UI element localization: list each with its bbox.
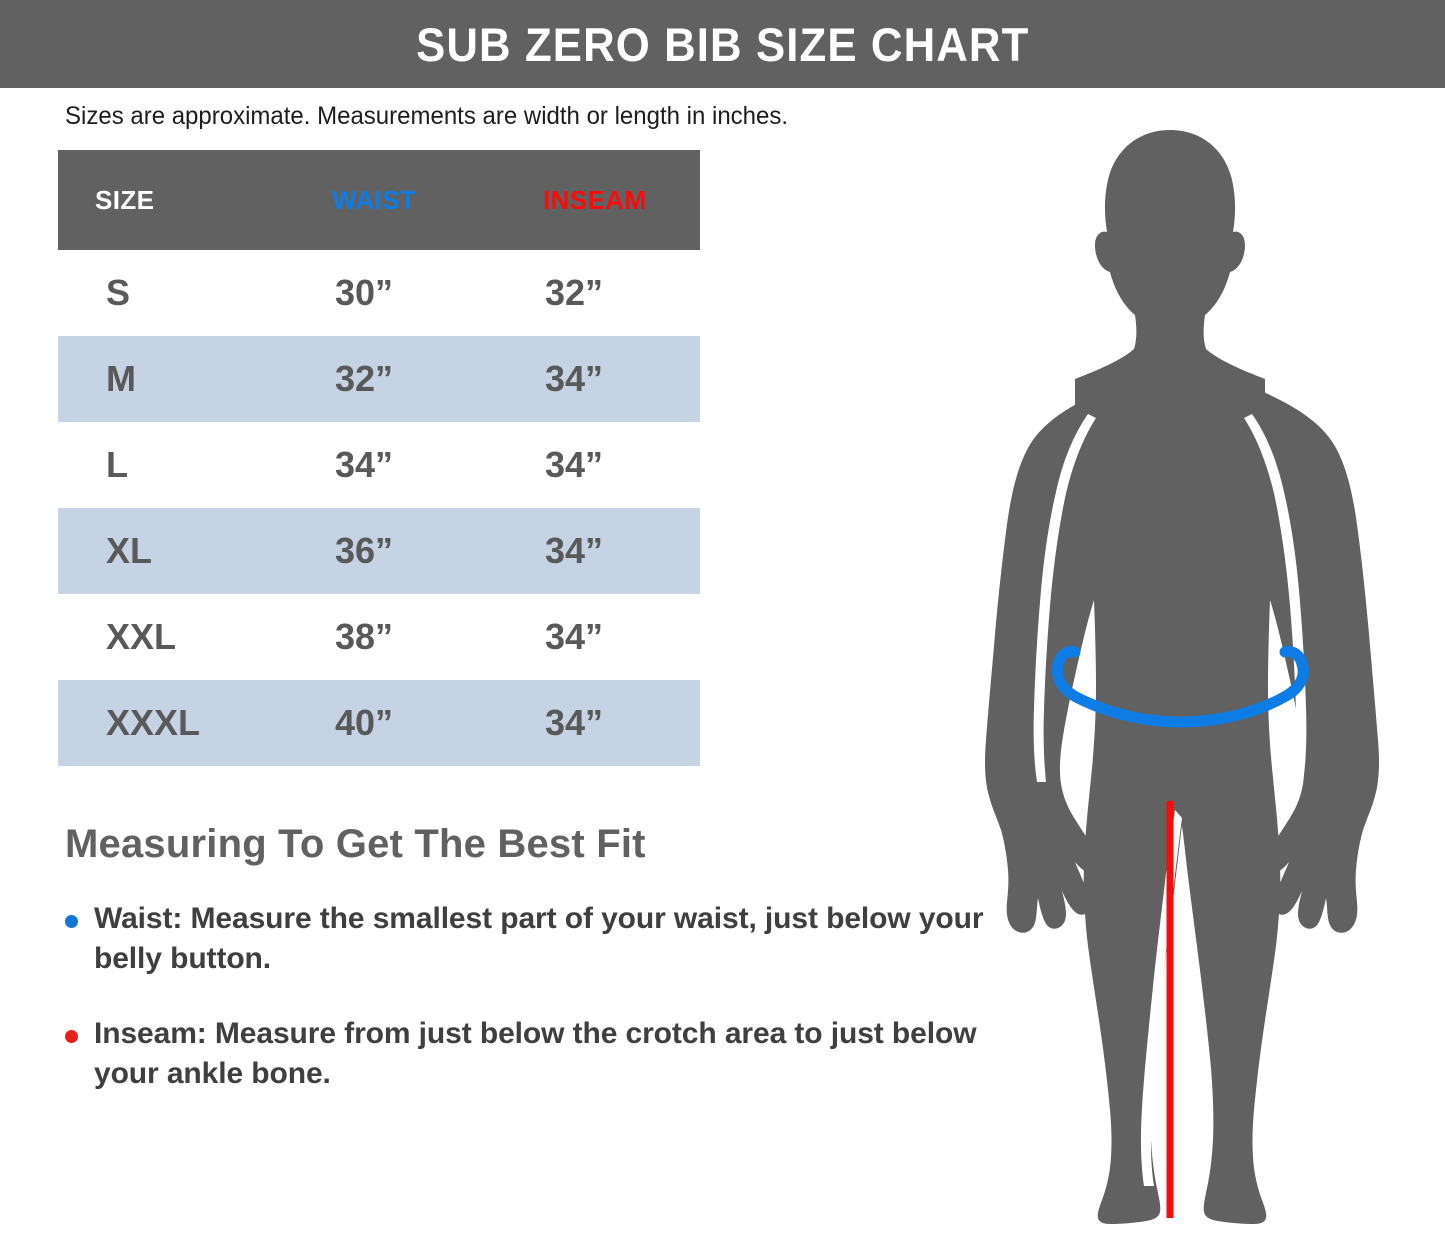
bullet-point-icon-waist (65, 915, 78, 928)
measuring-tip-waist: Waist: Measure the smallest part of your… (65, 899, 985, 978)
measuring-heading: Measuring To Get The Best Fit (65, 823, 985, 865)
subtitle-note: Sizes are approximate. Measurements are … (65, 102, 788, 131)
cell-size: M (58, 336, 290, 422)
cell-inseam: 34” (495, 422, 700, 508)
cell-size: XXXL (58, 680, 290, 766)
cell-inseam: 34” (495, 594, 700, 680)
page-header-banner: SUB ZERO BIB SIZE CHART (0, 0, 1445, 88)
measuring-tip-waist-text: Waist: Measure the smallest part of your… (94, 899, 985, 978)
cell-size: XL (58, 508, 290, 594)
table-body: S 30” 32” M 32” 34” L 34” 34” XL 36” 34”… (58, 250, 700, 766)
cell-waist: 36” (290, 508, 495, 594)
table-row: M 32” 34” (58, 336, 700, 422)
cell-waist: 34” (290, 422, 495, 508)
page-content: Sizes are approximate. Measurements are … (0, 88, 1445, 1253)
cell-size: XXL (58, 594, 290, 680)
table-row: XXXL 40” 34” (58, 680, 700, 766)
column-header-inseam: INSEAM (495, 150, 700, 250)
cell-inseam: 34” (495, 680, 700, 766)
cell-waist: 30” (290, 250, 495, 336)
table-row: XXL 38” 34” (58, 594, 700, 680)
column-header-size: SIZE (58, 150, 290, 250)
table-row: L 34” 34” (58, 422, 700, 508)
bullet-point-icon-inseam (65, 1030, 78, 1043)
page-title: SUB ZERO BIB SIZE CHART (416, 21, 1029, 68)
measuring-tip-inseam-text: Inseam: Measure from just below the crot… (94, 1014, 985, 1093)
table-header-row: SIZE WAIST INSEAM (58, 150, 700, 250)
column-header-waist: WAIST (290, 150, 495, 250)
cell-inseam: 32” (495, 250, 700, 336)
measuring-tip-inseam: Inseam: Measure from just below the crot… (65, 1014, 985, 1093)
cell-waist: 40” (290, 680, 495, 766)
table-row: S 30” 32” (58, 250, 700, 336)
table-row: XL 36” 34” (58, 508, 700, 594)
male-silhouette-icon (985, 130, 1379, 1224)
body-figure-illustration (920, 118, 1420, 1248)
cell-size: S (58, 250, 290, 336)
cell-inseam: 34” (495, 336, 700, 422)
cell-size: L (58, 422, 290, 508)
cell-inseam: 34” (495, 508, 700, 594)
cell-waist: 32” (290, 336, 495, 422)
cell-waist: 38” (290, 594, 495, 680)
table-header: SIZE WAIST INSEAM (58, 150, 700, 250)
size-chart-table: SIZE WAIST INSEAM S 30” 32” M 32” 34” L … (58, 150, 700, 766)
measuring-section: Measuring To Get The Best Fit Waist: Mea… (65, 823, 985, 1129)
